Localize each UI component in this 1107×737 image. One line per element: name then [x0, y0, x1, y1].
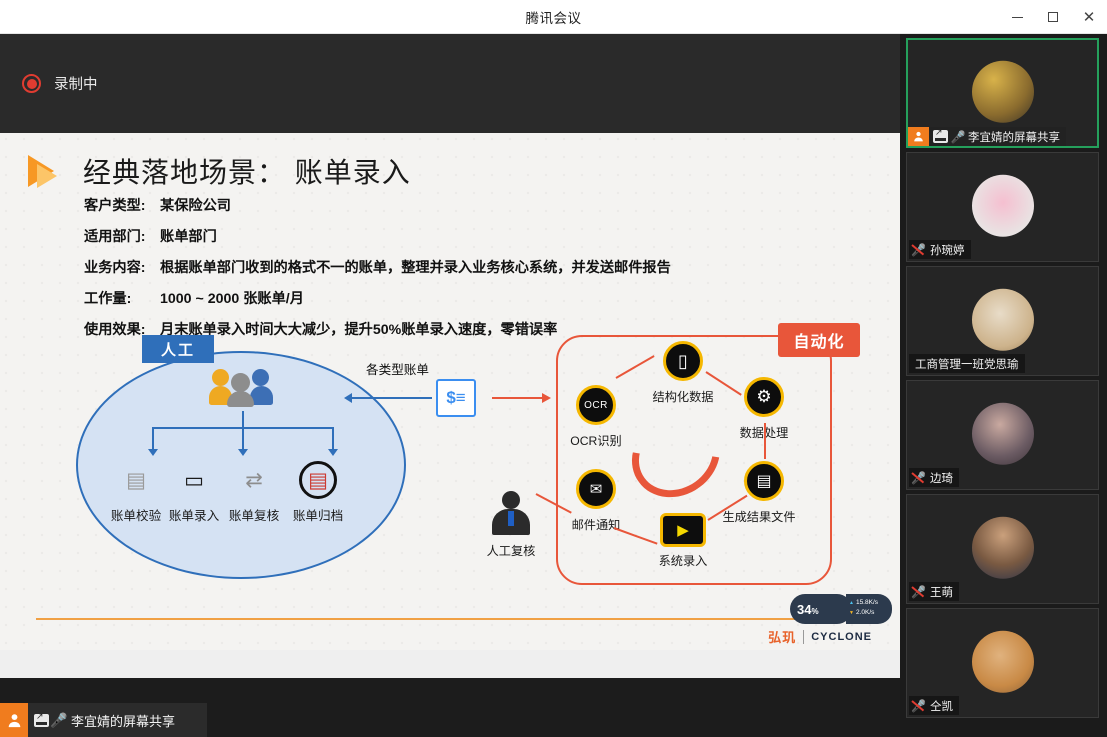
person-icon: [908, 127, 929, 146]
system-entry-icon: ▶: [660, 513, 706, 547]
participant-name-bar: 🎤 王萌: [909, 582, 959, 601]
title-bar: 腾讯会议 ✕: [0, 0, 1107, 34]
automation-node-label: OCR识别: [551, 431, 641, 449]
mic-muted-icon: 🎤: [911, 699, 926, 713]
shared-screen-area[interactable]: 经典落地场景： 账单录入 客户类型: 某保险公司 适用部门: 账单部门 业务内容…: [0, 133, 900, 678]
manual-step-label: 账单复核: [222, 505, 286, 524]
person-icon: [0, 703, 28, 737]
slide-title: 经典落地场景： 账单录入: [83, 151, 411, 191]
maximize-button[interactable]: [1035, 0, 1071, 34]
transfer-icon: ⇄: [237, 463, 271, 497]
logo-divider: [803, 630, 804, 644]
share-status-label: 李宜婧的屏幕共享: [71, 711, 175, 730]
brand-logo: 弘玑 CYCLONE: [768, 627, 872, 646]
avatar: [972, 631, 1034, 693]
participant-name-bar: 🎤 边琦: [909, 468, 959, 487]
manual-step-label: 账单录入: [162, 505, 226, 524]
mic-muted-icon: 🎤: [911, 243, 926, 257]
envelope-icon: ✉: [576, 469, 616, 509]
ocr-icon: OCR: [576, 385, 616, 425]
network-download: 2.0K/s: [849, 608, 889, 618]
automation-node-label: 邮件通知: [551, 515, 641, 533]
participant-tile[interactable]: 🎤 王萌: [906, 494, 1099, 604]
avatar: [972, 175, 1034, 237]
process-diagram: 人工: [0, 323, 900, 623]
screen-share-icon: [933, 130, 948, 143]
document-icon: ▯: [663, 341, 703, 381]
bullet-row: 工作量: 1000 ~ 2000 张账单/月: [84, 288, 844, 308]
participant-tile[interactable]: 工商管理一班党思瑜: [906, 266, 1099, 376]
automation-node-label: 系统录入: [638, 551, 728, 569]
manual-review-label: 人工复核: [466, 541, 556, 559]
participant-name: 孙琬婷: [930, 242, 965, 258]
window-title: 腾讯会议: [526, 7, 582, 27]
participant-tile[interactable]: 🎤 边琦: [906, 380, 1099, 490]
recording-bar: 录制中: [0, 34, 900, 133]
people-group-icon: [212, 367, 274, 407]
mic-icon: 🎤: [952, 130, 964, 144]
participant-name-bar: 🎤 仝凯: [909, 696, 959, 715]
recording-label: 录制中: [54, 73, 98, 94]
presentation-slide: 经典落地场景： 账单录入 客户类型: 某保险公司 适用部门: 账单部门 业务内容…: [0, 133, 900, 650]
participant-tile[interactable]: 🎤 仝凯: [906, 608, 1099, 718]
document-archive-icon: ▤: [299, 461, 337, 499]
bullet-value: 账单部门: [160, 226, 844, 246]
participant-name: 王萌: [930, 584, 953, 600]
mic-icon: 🎤: [53, 712, 65, 729]
participant-tile[interactable]: 🎤 李宜婧的屏幕共享: [906, 38, 1099, 148]
avatar: [972, 403, 1034, 465]
avatar: [972, 517, 1034, 579]
bullet-value: 某保险公司: [160, 195, 844, 215]
laptop-icon: ▭: [177, 463, 211, 497]
bullet-value: 根据账单部门收到的格式不一的账单，整理并录入业务核心系统，并发送邮件报告: [160, 257, 844, 277]
network-percent: 34: [797, 602, 811, 617]
automation-node-label: 结构化数据: [638, 387, 728, 405]
bullet-key: 客户类型:: [84, 195, 160, 215]
participant-rail: 🎤 李宜婧的屏幕共享 🎤 孙琬婷 工商管理一班党思瑜 🎤 边琦: [900, 34, 1107, 737]
bullet-key: 适用部门:: [84, 226, 160, 246]
network-speed-widget: 34 %: [790, 594, 852, 624]
logo-english: CYCLONE: [811, 631, 872, 643]
bullet-key: 业务内容:: [84, 257, 160, 277]
invoice-icon: $≡: [436, 379, 476, 417]
manual-step-label: 账单归档: [286, 505, 350, 524]
bullet-value: 1000 ~ 2000 张账单/月: [160, 288, 844, 308]
clipboard-check-icon: ▤: [119, 463, 153, 497]
close-button[interactable]: ✕: [1071, 0, 1107, 34]
bullet-row: 业务内容: 根据账单部门收到的格式不一的账单，整理并录入业务核心系统，并发送邮件…: [84, 257, 844, 277]
network-speed-detail: 15.8K/s 2.0K/s: [846, 594, 892, 624]
meeting-stage: 录制中 经典落地场景： 账单录入 客户类型: 某保险公司 适用部门: 账单部门: [0, 34, 900, 737]
tencent-meeting-window: 腾讯会议 ✕ 录制中 经典落地场景： 账单录入 客户类型:: [0, 0, 1107, 737]
file-gear-icon: ▤: [744, 461, 784, 501]
bullet-row: 适用部门: 账单部门: [84, 226, 844, 246]
person-suit-icon: [492, 491, 530, 537]
participant-name: 工商管理一班党思瑜: [915, 356, 1019, 372]
participant-name-bar: 🎤 孙琬婷: [909, 240, 971, 259]
bullet-row: 客户类型: 某保险公司: [84, 195, 844, 215]
participant-name-bar: 🎤 李宜婧的屏幕共享: [908, 127, 1066, 146]
automation-node-label: 生成结果文件: [714, 507, 804, 525]
logo-chinese: 弘玑: [768, 627, 796, 646]
avatar: [972, 61, 1034, 123]
automation-ribbon-label: 自动化: [778, 323, 860, 357]
slide-divider: [36, 618, 862, 620]
participant-name-bar: 工商管理一班党思瑜: [909, 354, 1025, 373]
record-dot-icon: [22, 74, 41, 93]
gears-icon: ⚙: [744, 377, 784, 417]
play-triangle-secondary-icon: [37, 164, 57, 188]
manual-tag: 人工: [142, 335, 214, 363]
participant-name: 李宜婧的屏幕共享: [968, 129, 1060, 145]
slide-header: 经典落地场景： 账单录入: [28, 151, 411, 191]
screen-share-status-bar: 🎤 李宜婧的屏幕共享: [0, 703, 207, 737]
participant-tile[interactable]: 🎤 孙琬婷: [906, 152, 1099, 262]
mic-muted-icon: 🎤: [911, 585, 926, 599]
network-upload: 15.8K/s: [849, 598, 889, 608]
participant-name: 仝凯: [930, 698, 953, 714]
manual-step-label: 账单校验: [104, 505, 168, 524]
participant-name: 边琦: [930, 470, 953, 486]
mic-muted-icon: 🎤: [911, 471, 926, 485]
window-controls: ✕: [999, 0, 1107, 34]
minimize-button[interactable]: [999, 0, 1035, 34]
screen-share-icon: [34, 714, 49, 727]
bills-label: 各类型账单: [366, 359, 429, 378]
network-percent-unit: %: [811, 607, 818, 616]
bullet-key: 工作量:: [84, 288, 160, 308]
avatar: [972, 289, 1034, 351]
